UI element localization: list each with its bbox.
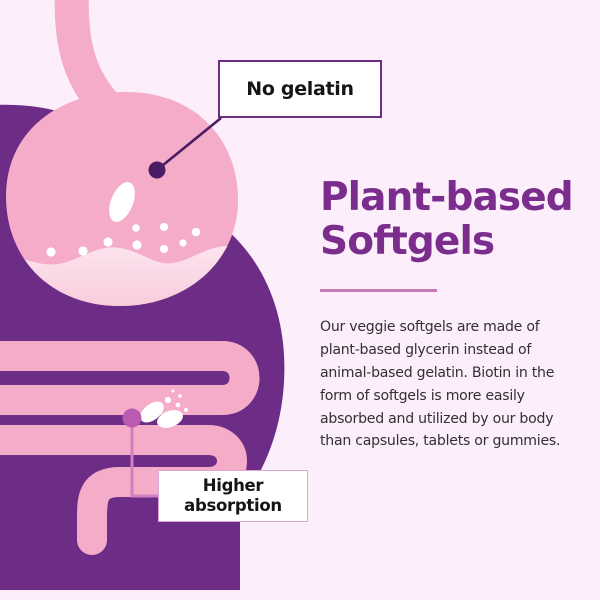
callout-higher-absorption[interactable]: Higher absorption — [158, 470, 308, 522]
callout-higher-absorption-label-line2: absorption — [184, 496, 282, 515]
body-copy: Our veggie softgels are made of plant-ba… — [320, 292, 582, 453]
connector-dot-higher-absorption — [123, 409, 142, 428]
infographic-root: No gelatin Higher absorption Plant-based… — [0, 0, 600, 600]
callout-no-gelatin[interactable]: No gelatin — [218, 60, 382, 118]
callout-higher-absorption-label: Higher absorption — [184, 476, 282, 516]
connector-dot-no-gelatin — [149, 162, 166, 179]
page-title: Plant-based Softgels — [320, 176, 582, 263]
callout-higher-absorption-label-line1: Higher — [203, 476, 264, 495]
page-title-line1: Plant-based — [320, 175, 573, 220]
page-title-line2: Softgels — [320, 219, 494, 264]
callout-no-gelatin-label: No gelatin — [246, 78, 354, 100]
text-column: Plant-based Softgels Our veggie softgels… — [320, 176, 582, 453]
